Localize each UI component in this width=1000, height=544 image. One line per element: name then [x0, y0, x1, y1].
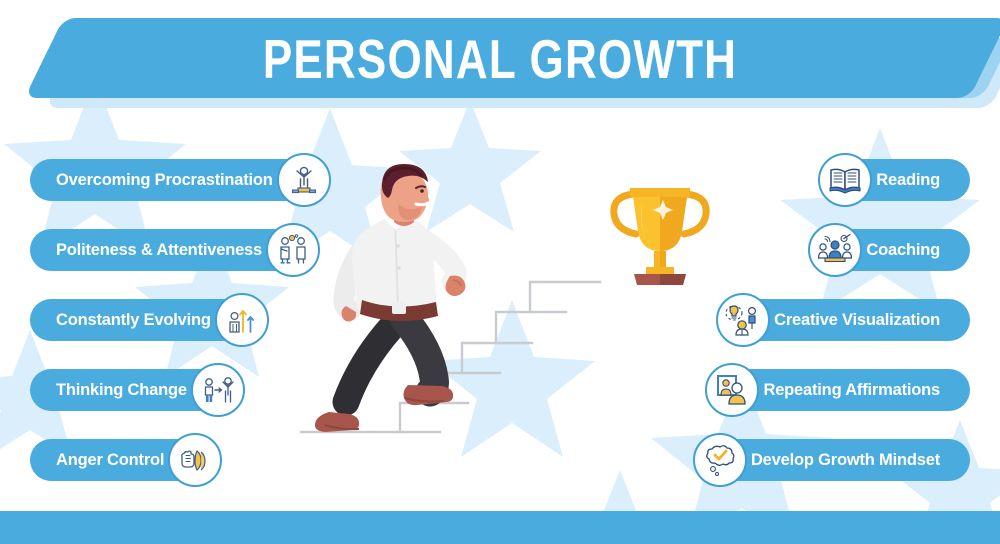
page-title: PERSONAL GROWTH — [100, 24, 900, 94]
item-creative-visualization[interactable]: Creative Visualization — [716, 299, 970, 341]
item-politeness-attentiveness[interactable]: Politeness & Attentiveness — [30, 229, 320, 271]
pill-background: Politeness & Attentiveness — [30, 229, 306, 271]
item-develop-growth-mindset[interactable]: Develop Growth Mindset — [693, 439, 970, 481]
pill-background: Overcoming Procrastination — [30, 159, 317, 201]
item-repeating-affirmations[interactable]: Repeating Affirmations — [705, 369, 970, 411]
item-label: Coaching — [866, 241, 940, 260]
item-label: Overcoming Procrastination — [56, 171, 273, 190]
item-anger-control[interactable]: Anger Control — [30, 439, 222, 481]
item-label: Reading — [876, 171, 940, 190]
item-label: Creative Visualization — [774, 311, 940, 330]
infographic-canvas: PERSONAL GROWTH Overcoming Procrastinati… — [0, 0, 1000, 544]
item-label: Anger Control — [56, 451, 164, 470]
person-transformation-icon — [191, 363, 245, 417]
footer-bar — [0, 511, 1000, 544]
item-thinking-change[interactable]: Thinking Change — [30, 369, 245, 411]
item-label: Develop Growth Mindset — [751, 451, 940, 470]
title-banner: PERSONAL GROWTH — [0, 0, 1000, 135]
item-label: Thinking Change — [56, 381, 187, 400]
item-coaching[interactable]: Coaching — [808, 229, 970, 271]
item-constantly-evolving[interactable]: Constantly Evolving — [30, 299, 269, 341]
fist-and-open-hand-icon — [168, 433, 222, 487]
person-on-podium-icon — [277, 153, 331, 207]
item-reading[interactable]: Reading — [818, 159, 970, 201]
item-overcoming-procrastination[interactable]: Overcoming Procrastination — [30, 159, 331, 201]
open-book-icon — [818, 153, 872, 207]
item-label: Repeating Affirmations — [763, 381, 940, 400]
thought-cloud-check-icon — [693, 433, 747, 487]
two-people-talking-icon — [266, 223, 320, 277]
gold-trophy-icon — [600, 168, 720, 288]
businessman-climbing-stairs — [300, 160, 620, 470]
idea-lightbulb-head-icon — [716, 293, 770, 347]
item-label: Politeness & Attentiveness — [56, 241, 262, 260]
person-growth-arrows-icon — [215, 293, 269, 347]
item-label: Constantly Evolving — [56, 311, 211, 330]
